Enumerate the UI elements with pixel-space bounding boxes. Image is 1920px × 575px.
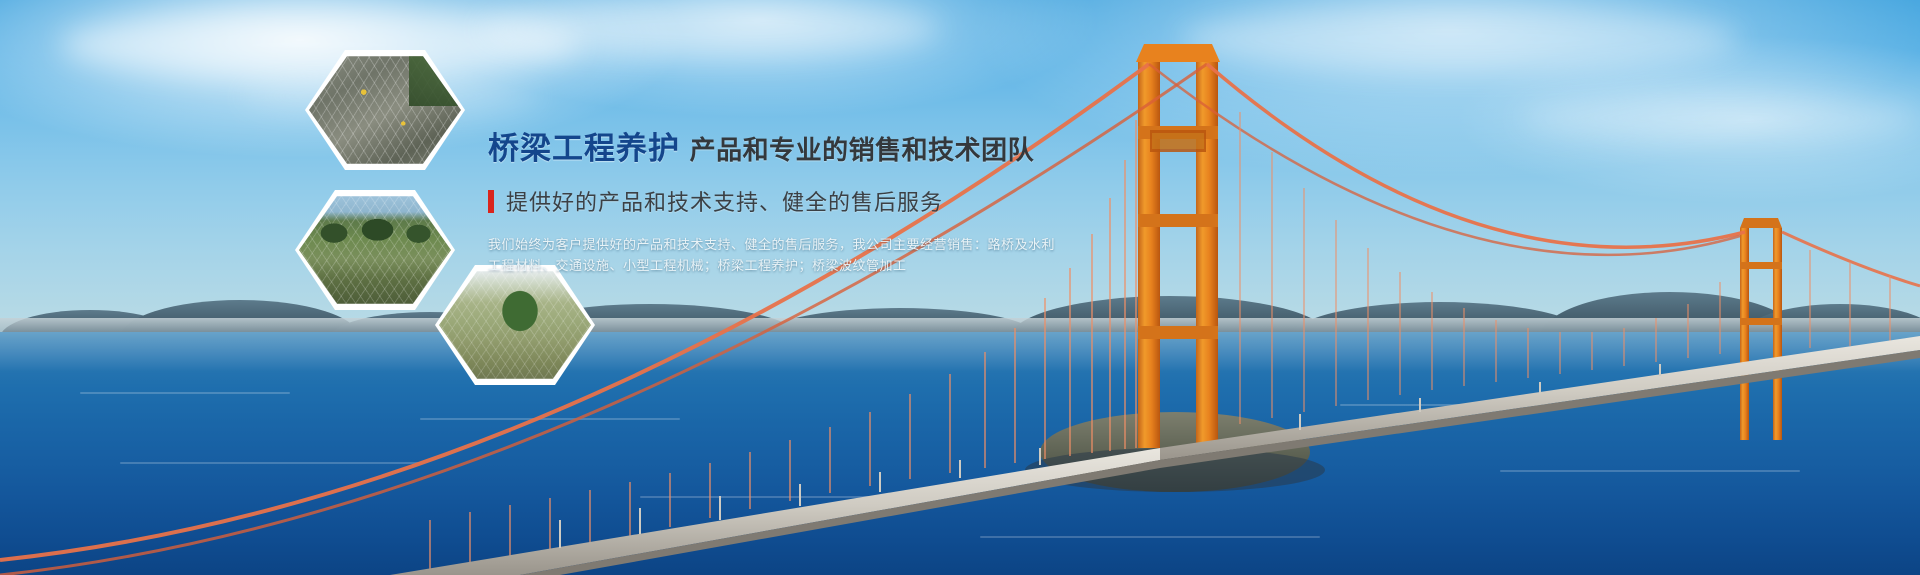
gallery-hex-frame-3[interactable] (435, 265, 595, 385)
gallery-hex-image-1 (309, 54, 461, 166)
gallery-hex-image-2 (299, 194, 451, 306)
paragraph-line-1: 我们始终为客户提供好的产品和技术支持、健全的售后服务，我公司主要经营销售：路桥及… (488, 234, 1168, 255)
slope-protection-photo (309, 54, 461, 166)
headline-primary: 桥梁工程养护 (488, 131, 680, 166)
hero-banner: 桥梁工程养护 产品和专业的销售和技术团队 提供好的产品和技术支持、健全的售后服务… (0, 0, 1920, 575)
headline-secondary: 产品和专业的销售和技术团队 (690, 135, 1035, 165)
banner-subtitle-row: 提供好的产品和技术支持、健全的售后服务 (488, 185, 1168, 217)
gallery-hex-frame-1[interactable] (305, 50, 465, 170)
mountain-slope-photo (439, 269, 591, 381)
suspension-bridge (0, 0, 1920, 575)
banner-copy: 桥梁工程养护 产品和专业的销售和技术团队 提供好的产品和技术支持、健全的售后服务… (488, 128, 1168, 276)
banner-headline: 桥梁工程养护 产品和专业的销售和技术团队 (488, 128, 1168, 171)
paragraph-line-2: 工程材料、交通设施、小型工程机械；桥梁工程养护；桥梁波纹管加工 (488, 255, 1168, 276)
gallery-hex-frame-2[interactable] (295, 190, 455, 310)
green-slope-photo (299, 194, 451, 306)
gallery-hex-image-3 (439, 269, 591, 381)
accent-bar-icon (488, 190, 494, 213)
banner-subtitle: 提供好的产品和技术支持、健全的售后服务 (506, 185, 943, 217)
banner-paragraph: 我们始终为客户提供好的产品和技术支持、健全的售后服务，我公司主要经营销售：路桥及… (488, 234, 1168, 276)
